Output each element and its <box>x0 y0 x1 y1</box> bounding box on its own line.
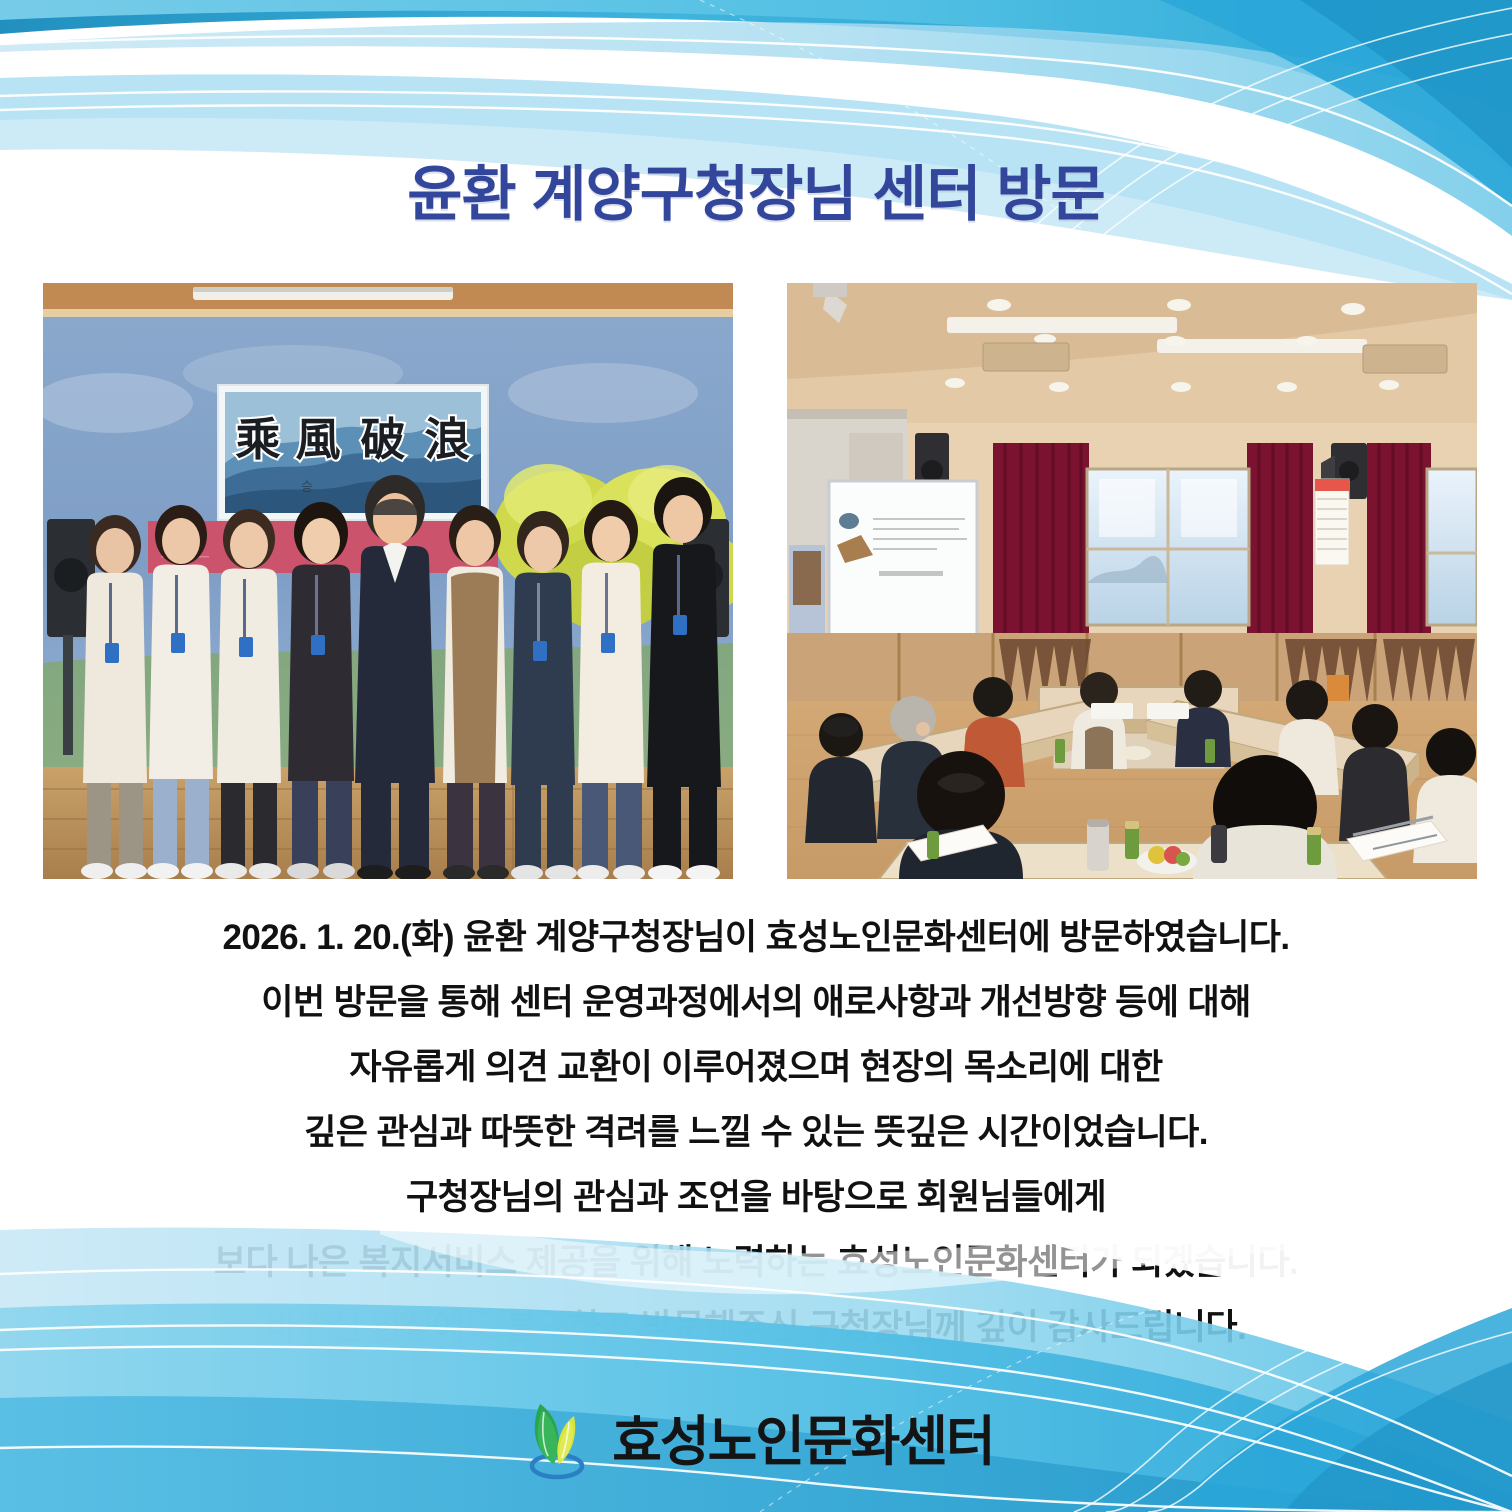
footer-logo: 효성노인문화센터 <box>0 1398 1512 1482</box>
group-photo: 乘 風 破 浪 승랑 ＿＿＿＿＿＿ <box>43 283 733 879</box>
photo-row: 乘 風 破 浪 승랑 ＿＿＿＿＿＿ <box>43 283 1470 879</box>
svg-text:破: 破 <box>360 413 405 466</box>
leaf-sprout-icon <box>518 1398 596 1482</box>
body-line: 바쁘신 일정에도 불구하고 방문해주신 구청장님께 깊이 감사드립니다. <box>0 1295 1512 1360</box>
body-line: 구청장님의 관심과 조언을 바탕으로 회원님들에게 <box>0 1165 1512 1230</box>
svg-text:浪: 浪 <box>424 413 470 466</box>
meeting-photo <box>787 283 1477 879</box>
body-line: 2026. 1. 20.(화) 윤환 계양구청장님이 효성노인문화센터에 방문하… <box>0 905 1512 970</box>
body-line: 이번 방문을 통해 센터 운영과정에서의 애로사항과 개선방향 등에 대해 <box>0 970 1512 1035</box>
body-line: 깊은 관심과 따뜻한 격려를 느낄 수 있는 뜻깊은 시간이었습니다. <box>0 1100 1512 1165</box>
svg-text:風: 風 <box>295 413 340 466</box>
organization-name: 효성노인문화센터 <box>612 1415 993 1469</box>
body-line: 자유롭게 의견 교환이 이루어졌으며 현장의 목소리에 대한 <box>0 1035 1512 1100</box>
page-title: 윤환 계양구청장님 센터 방문 <box>407 160 1104 230</box>
body-paragraph: 2026. 1. 20.(화) 윤환 계양구청장님이 효성노인문화센터에 방문하… <box>0 905 1512 1360</box>
top-wave-band <box>0 0 1512 300</box>
body-line: 보다 나은 복지서비스 제공을 위해 노력하는 효성노인문화센터가 되겠습니다. <box>0 1230 1512 1295</box>
page-title-wrap: 윤환 계양구청장님 센터 방문 <box>0 160 1512 230</box>
svg-text:승: 승 <box>301 480 313 495</box>
card-news-poster: 윤환 계양구청장님 센터 방문 <box>0 0 1512 1512</box>
svg-text:乘: 乘 <box>235 413 280 466</box>
